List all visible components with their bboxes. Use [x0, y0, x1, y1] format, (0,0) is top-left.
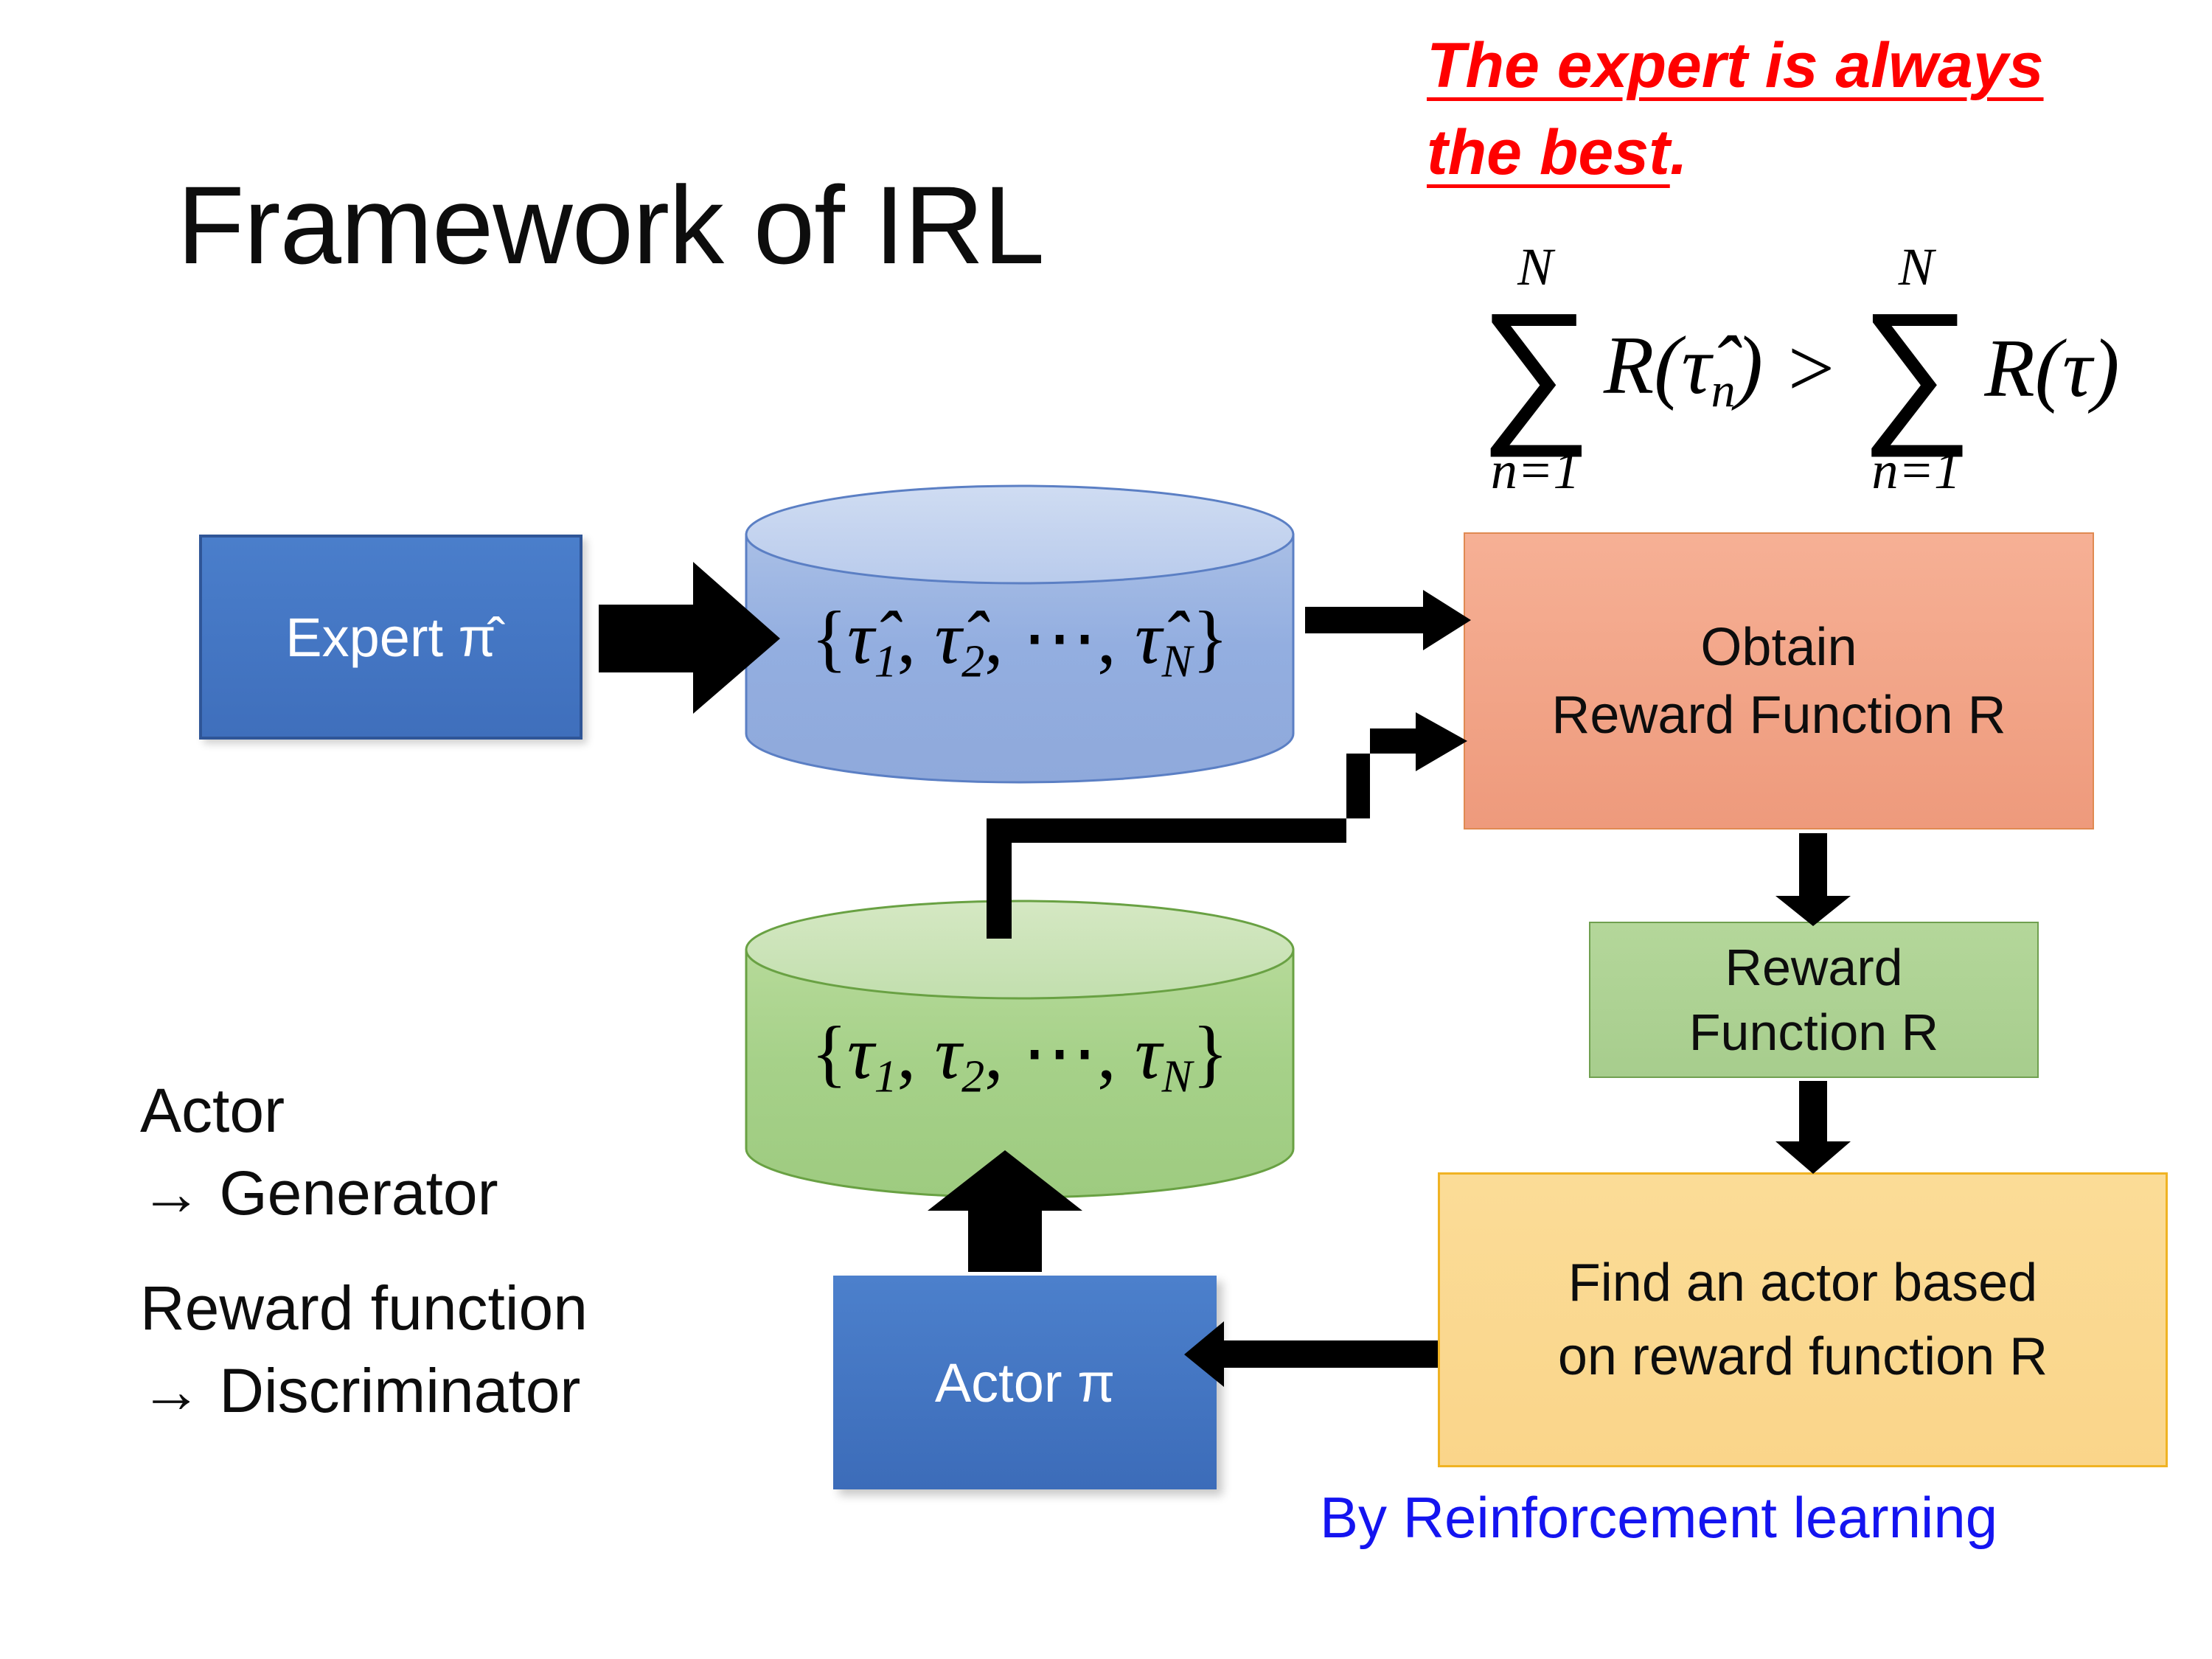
note-actor-line-1: Actor	[140, 1069, 877, 1152]
term-left: R(τ̂n)	[1604, 319, 1763, 419]
term-right: R(τ)	[1984, 321, 2119, 417]
tau-1-sub: 1	[874, 1052, 897, 1102]
ellipsis: ⋯	[1022, 1012, 1097, 1095]
obtain-reward-function-node[interactable]: Obtain Reward Function R	[1464, 532, 2094, 829]
actor-label: Actor π	[935, 1352, 1115, 1414]
sum-lower-right: n=1	[1860, 444, 1972, 497]
tau-n-sub: N	[1162, 1052, 1192, 1102]
reward-function-line-1: Reward	[1590, 935, 2037, 1000]
arrow-obtain-reward-to-reward-function	[1775, 833, 1851, 926]
reward-function-line-2: Function R	[1590, 1000, 2037, 1065]
tau-n: τ̂	[1135, 597, 1162, 680]
term-left-close: )	[1736, 320, 1763, 411]
note-reward-line-2: → Discriminator	[140, 1349, 877, 1432]
tau-n-sub: N	[1162, 637, 1192, 687]
expert-label: Expert π̂	[285, 606, 496, 669]
tau-1-sub: 1	[874, 637, 897, 687]
set-close: }	[1192, 1012, 1228, 1095]
arrow-reward-function-to-find-actor	[1775, 1081, 1851, 1174]
inequality-formula: N ∑ n=1 R(τ̂n) > N ∑ n=1 R(τ)	[1401, 236, 2197, 501]
obtain-reward-line-2: Reward Function R	[1465, 681, 2093, 749]
set-close: }	[1192, 597, 1228, 680]
expert-node[interactable]: Expert π̂	[199, 535, 582, 740]
slide-canvas: Framework of IRL The expert is always th…	[0, 0, 2212, 1659]
arrow-find-actor-to-actor	[1184, 1321, 1438, 1387]
relation-operator: >	[1775, 321, 1848, 417]
summation-left: N ∑ n=1	[1479, 240, 1592, 497]
summation-right: N ∑ n=1	[1860, 240, 1972, 497]
tau-n: τ	[1135, 1012, 1162, 1095]
notes-spacer	[140, 1234, 877, 1267]
sigma-icon: ∑	[1860, 276, 1972, 461]
tau-2: τ̂	[935, 597, 962, 680]
term-left-var: τ̂	[1682, 320, 1711, 411]
find-actor-line-1: Find an actor based	[1440, 1246, 2166, 1320]
expert-trajectory-cylinder[interactable]: {τ̂1, τ̂2, ⋯, τ̂N}	[743, 483, 1296, 785]
ellipsis: ⋯	[1022, 597, 1097, 680]
expert-best-callout: The expert is always the best.	[1427, 22, 2090, 196]
note-reward-line-1: Reward function	[140, 1267, 877, 1349]
callout-line-1: The expert is always	[1427, 30, 2044, 101]
callout-line-2: the best	[1427, 117, 1670, 188]
page-title: Framework of IRL	[177, 159, 1209, 291]
term-left-sub: n	[1711, 364, 1736, 417]
tau-2-sub: 2	[961, 637, 984, 687]
mapping-notes: Actor → Generator Reward function → Disc…	[140, 1069, 877, 1432]
sigma-icon: ∑	[1479, 276, 1592, 461]
arrow-trajectories-to-obtain-reward	[1305, 590, 1471, 650]
reinforcement-learning-caption: By Reinforcement learning	[1320, 1482, 2168, 1553]
sum-lower-left: n=1	[1479, 444, 1592, 497]
callout-period: .	[1670, 117, 1688, 188]
tau-2: τ	[935, 1012, 962, 1095]
term-left-open: R(	[1604, 320, 1682, 411]
expert-trajectory-label: {τ̂1, τ̂2, ⋯, τ̂N}	[743, 594, 1296, 689]
tau-1: τ̂	[847, 597, 874, 680]
note-actor-line-2: → Generator	[140, 1152, 877, 1234]
find-actor-line-2: on reward function R	[1440, 1320, 2166, 1394]
tau-2-sub: 2	[961, 1052, 984, 1102]
obtain-reward-line-1: Obtain	[1465, 613, 2093, 681]
set-open: {	[811, 597, 847, 680]
actor-node[interactable]: Actor π	[833, 1276, 1217, 1489]
find-actor-node[interactable]: Find an actor based on reward function R	[1438, 1172, 2168, 1467]
reward-function-node[interactable]: Reward Function R	[1589, 922, 2039, 1078]
